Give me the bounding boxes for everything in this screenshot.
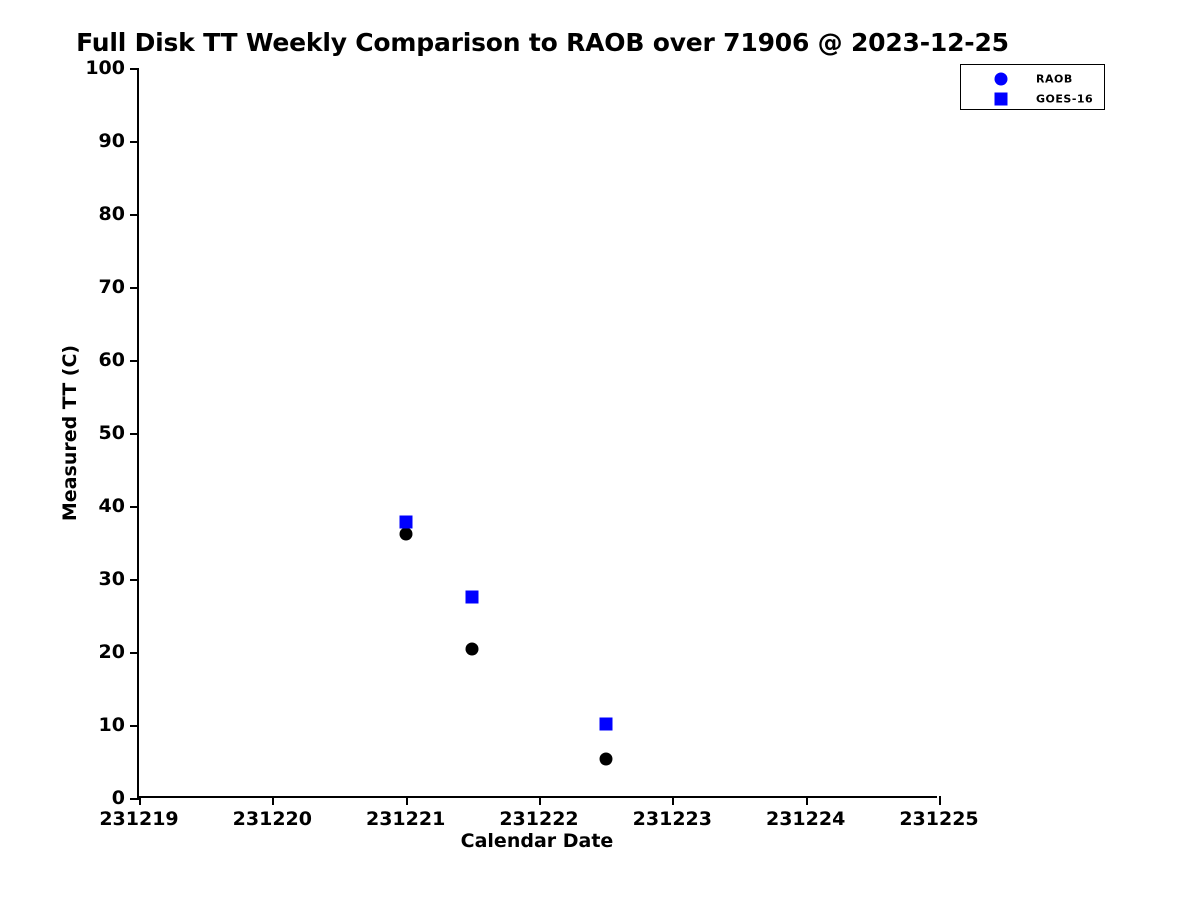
data-point-raob	[466, 643, 479, 656]
y-axis-tick-label: 20	[99, 641, 125, 663]
y-axis-tick	[130, 579, 139, 581]
x-axis-tick-label: 231219	[99, 808, 178, 830]
y-axis-tick-label: 40	[99, 495, 125, 517]
x-axis-tick-label: 231225	[899, 808, 978, 830]
x-axis-tick	[539, 796, 541, 805]
data-point-raob	[399, 528, 412, 541]
x-axis-tick	[939, 796, 941, 805]
y-axis-tick-label: 0	[112, 787, 125, 809]
y-axis-tick-label: 80	[99, 203, 125, 225]
y-axis-tick	[130, 433, 139, 435]
x-axis-tick	[139, 796, 141, 805]
y-axis-tick-label: 60	[99, 349, 125, 371]
y-axis-tick-label: 90	[99, 130, 125, 152]
y-axis-tick	[130, 725, 139, 727]
x-axis-tick-label: 231221	[366, 808, 445, 830]
y-axis-label: Measured TT (C)	[58, 68, 82, 798]
x-axis-label: Calendar Date	[137, 830, 937, 852]
x-axis-tick	[406, 796, 408, 805]
y-axis-tick	[130, 360, 139, 362]
plot-area: 0102030405060708090100231219231220231221…	[137, 68, 937, 798]
x-axis-tick-label: 231220	[233, 808, 312, 830]
x-axis-tick	[272, 796, 274, 805]
legend-label: GOES-16	[1036, 92, 1093, 105]
data-point-goes-16	[466, 591, 479, 604]
legend-circle-icon	[995, 72, 1008, 85]
x-axis-tick-label: 231223	[633, 808, 712, 830]
data-point-raob	[599, 752, 612, 765]
y-axis-tick	[130, 506, 139, 508]
x-axis-tick-label: 231224	[766, 808, 845, 830]
y-axis-tick-label: 100	[85, 57, 125, 79]
x-axis-tick	[806, 796, 808, 805]
legend-label: RAOB	[1036, 72, 1073, 85]
x-axis-tick	[672, 796, 674, 805]
chart-figure: Full Disk TT Weekly Comparison to RAOB o…	[0, 0, 1200, 900]
data-point-goes-16	[399, 516, 412, 529]
y-axis-tick	[130, 652, 139, 654]
y-axis-tick	[130, 214, 139, 216]
y-axis-tick	[130, 141, 139, 143]
legend-square-icon	[995, 92, 1008, 105]
y-axis-tick-label: 30	[99, 568, 125, 590]
y-axis-tick	[130, 68, 139, 70]
page-title: Full Disk TT Weekly Comparison to RAOB o…	[0, 28, 1085, 57]
x-axis-tick-label: 231222	[499, 808, 578, 830]
y-axis-tick-label: 10	[99, 714, 125, 736]
y-axis-tick-label: 70	[99, 276, 125, 298]
y-axis-tick	[130, 287, 139, 289]
legend: RAOBGOES-16	[960, 64, 1105, 110]
legend-item-raob: RAOB	[961, 69, 1104, 88]
y-axis-tick	[130, 798, 139, 800]
y-axis-tick-label: 50	[99, 422, 125, 444]
data-point-goes-16	[599, 718, 612, 731]
legend-item-goes-16: GOES-16	[961, 89, 1104, 108]
